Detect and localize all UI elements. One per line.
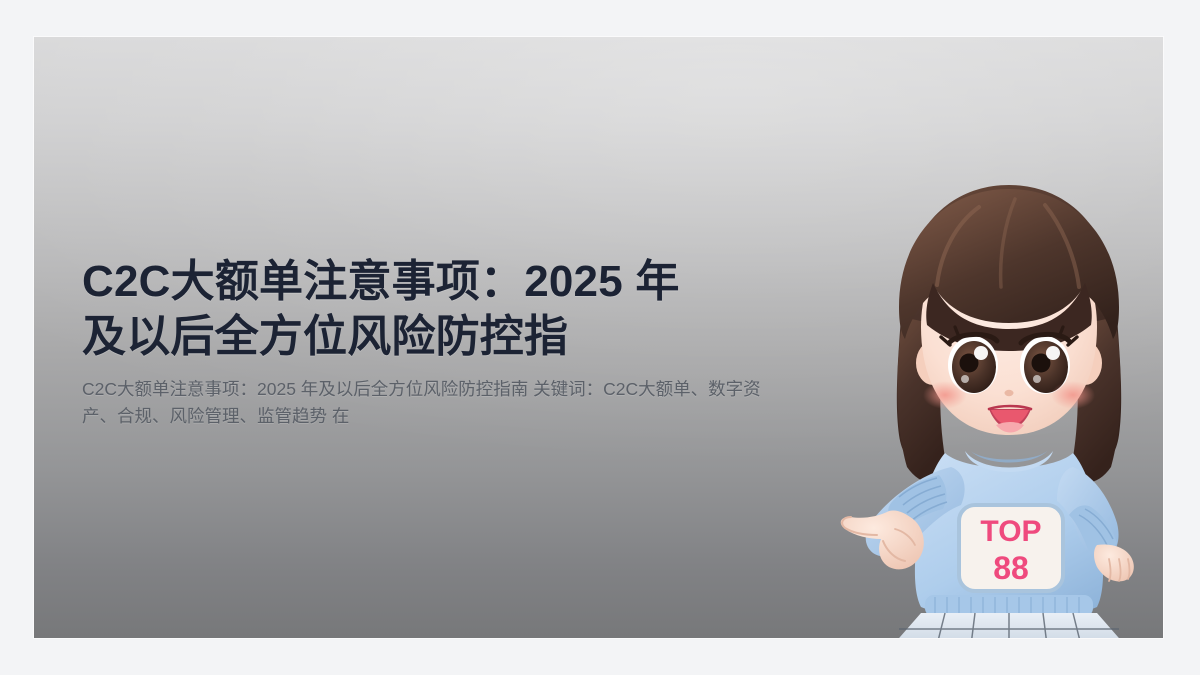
skirt — [893, 613, 1125, 638]
slide-text-block: C2C大额单注意事项：2025 年 及以后全方位风险防控指 C2C大额单注意事项… — [82, 255, 782, 430]
sweater-patch: TOP 88 — [959, 505, 1063, 591]
sweater-patch-top-text: TOP — [980, 515, 1041, 548]
sweater-patch-88-text: 88 — [993, 550, 1029, 586]
page-title: C2C大额单注意事项：2025 年 及以后全方位风险防控指 — [82, 255, 782, 364]
character-illustration: TOP 88 — [829, 167, 1163, 638]
presentation-slide: C2C大额单注意事项：2025 年 及以后全方位风险防控指 C2C大额单注意事项… — [34, 37, 1163, 638]
slide-subtitle: C2C大额单注意事项：2025 年及以后全方位风险防控指南 关键词：C2C大额单… — [82, 376, 772, 430]
screenshot-root: C2C大额单注意事项：2025 年 及以后全方位风险防控指 C2C大额单注意事项… — [0, 0, 1200, 675]
